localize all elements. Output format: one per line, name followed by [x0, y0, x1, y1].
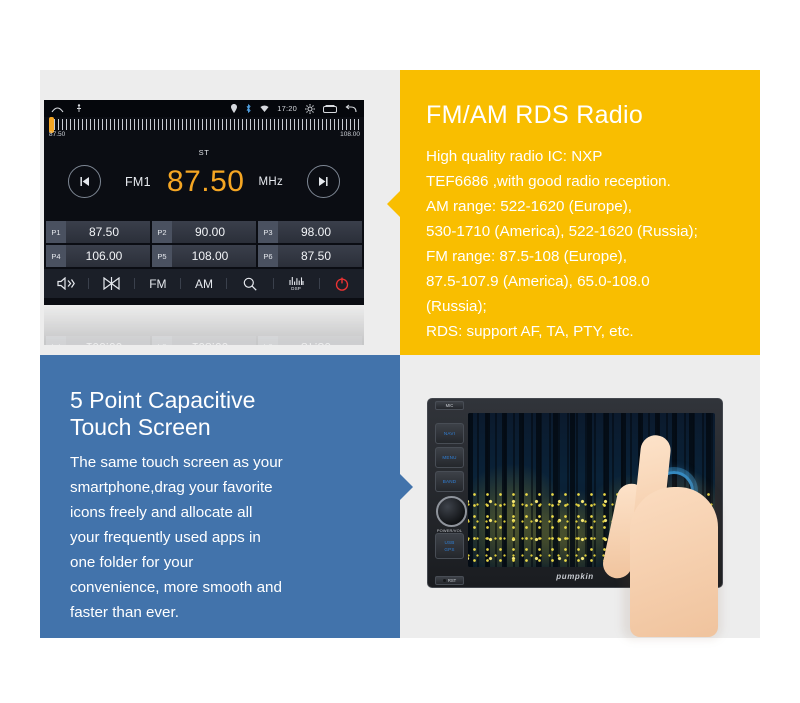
panel-title-touch: 5 Point Capacitive Touch Screen — [70, 387, 370, 440]
seek-prev-button[interactable] — [68, 165, 101, 198]
usb-icon — [76, 104, 82, 113]
mic-label: MIC — [435, 401, 464, 410]
scale-high-label: 108.00 — [340, 131, 360, 138]
preset-number: P5 — [152, 245, 172, 267]
tuning-scale[interactable]: 87.50 108.00 — [44, 117, 364, 145]
preset-number: P1 — [46, 221, 66, 243]
back-icon[interactable] — [345, 104, 357, 113]
bluetooth-icon — [245, 104, 252, 113]
toolbar-divider — [319, 278, 320, 289]
radio-ui-screenshot: 17:20 87.50 108.00 ST FM1 87.50 MHz — [44, 100, 364, 305]
status-bar-clock: 17:20 — [277, 104, 297, 113]
stereo-mono-icon[interactable] — [99, 277, 125, 290]
panel-arrow-notch — [387, 190, 401, 218]
gps-port-label: GPS — [444, 547, 454, 552]
head-unit-button-column: NAVI MENU BAND POWER/VOL USB GPS — [435, 412, 464, 577]
toolbar-divider — [226, 278, 227, 289]
radio-bottom-toolbar: FM AM DSP — [44, 269, 364, 298]
android-status-bar: 17:20 — [44, 100, 364, 117]
mute-icon[interactable] — [53, 277, 79, 290]
menu-button[interactable]: MENU — [435, 447, 464, 468]
frequency-value: 87.50 — [167, 167, 245, 197]
scale-ticks-major — [50, 119, 360, 126]
feature-panel-radio: FM/AM RDS Radio High quality radio IC: N… — [400, 70, 760, 355]
brightness-icon[interactable] — [305, 104, 315, 114]
frequency-display-area: ST FM1 87.50 MHz — [44, 145, 364, 221]
usb-gps-ports[interactable]: USB GPS — [435, 533, 464, 559]
preset-grid: P1 87.50 P2 90.00 P3 98.00 P4 106.00 P5 … — [44, 221, 364, 267]
recents-icon[interactable] — [323, 104, 337, 113]
seek-next-button[interactable] — [307, 165, 340, 198]
preset-button[interactable]: P1 87.50 — [46, 221, 150, 243]
power-volume-knob[interactable] — [436, 496, 467, 527]
hand-illustration — [604, 435, 722, 640]
feature-panel-touch: 5 Point Capacitive Touch Screen The same… — [40, 355, 400, 638]
preset-button[interactable]: P2 90.00 — [152, 221, 256, 243]
band-label: FM1 — [125, 175, 151, 189]
panel-body-touch: The same touch screen as your smartphone… — [70, 450, 370, 625]
stereo-indicator: ST — [44, 148, 364, 157]
power-icon[interactable] — [329, 277, 355, 291]
navi-button[interactable]: NAVI — [435, 423, 464, 444]
toolbar-divider — [273, 278, 274, 289]
usb-port-label: USB — [444, 540, 454, 545]
panel-body-radio: High quality radio IC: NXP TEF6686 ,with… — [426, 144, 734, 344]
frequency-unit: MHz — [258, 176, 283, 188]
preset-button[interactable]: P5 108.00 — [152, 245, 256, 267]
toolbar-divider — [180, 278, 181, 289]
preset-number: P3 — [258, 221, 278, 243]
preset-number: P2 — [152, 221, 172, 243]
preset-number: P6 — [258, 245, 278, 267]
preset-number: P4 — [46, 245, 66, 267]
preset-button[interactable]: P4 106.00 — [46, 245, 150, 267]
fm-button[interactable]: FM — [145, 278, 171, 290]
panel-arrow-notch — [399, 473, 413, 501]
panel-title-radio: FM/AM RDS Radio — [426, 102, 734, 130]
toolbar-divider — [88, 278, 89, 289]
dsp-label: DSP — [291, 287, 301, 292]
scan-search-icon[interactable] — [237, 277, 263, 291]
home-icon[interactable] — [51, 104, 64, 113]
wifi-icon — [260, 104, 269, 113]
band-button[interactable]: BAND — [435, 471, 464, 492]
am-button[interactable]: AM — [191, 278, 217, 290]
knob-label: POWER/VOL — [434, 528, 465, 533]
location-icon — [231, 104, 237, 113]
scale-low-label: 87.50 — [49, 131, 65, 138]
preset-button[interactable]: P3 98.00 — [258, 221, 362, 243]
toolbar-divider — [134, 278, 135, 289]
preset-button[interactable]: P6 87.50 — [258, 245, 362, 267]
dsp-equalizer-icon[interactable]: DSP — [283, 276, 309, 292]
palm — [630, 487, 718, 637]
